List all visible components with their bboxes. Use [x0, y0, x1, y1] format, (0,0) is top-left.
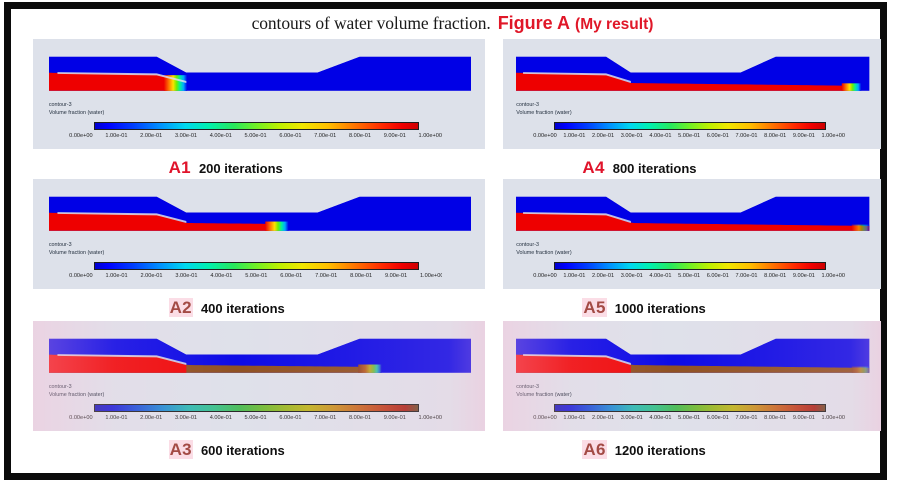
- panel-code-label: A6: [582, 440, 606, 459]
- colorbar-tick-labels: 0.00e+001.00e-012.00e-013.00e-014.00e-01…: [533, 273, 845, 279]
- colorbar-tick: 3.00e-01: [621, 273, 643, 279]
- colorbar-tick: 0.00e+00: [533, 133, 557, 139]
- contour-plot-area: contour-3Volume fraction (water)0.00e+00…: [33, 321, 485, 431]
- colorbar-tick: 2.00e-01: [140, 273, 162, 279]
- colorbar-tick: 7.00e-01: [314, 133, 336, 139]
- colorbar-tick: 0.00e+00: [69, 415, 93, 421]
- colorbar-tick-labels: 0.00e+001.00e-012.00e-013.00e-014.00e-01…: [69, 133, 442, 139]
- figure-panel-a1: contour-3Volume fraction (water)0.00e+00…: [33, 39, 485, 191]
- colorbar-tick: 1.00e-01: [563, 415, 585, 421]
- panel-code-label: A1: [169, 158, 191, 177]
- colorbar-tick: 1.00e+00: [822, 273, 846, 279]
- figure-title: contours of water volume fraction.Figure…: [11, 13, 894, 34]
- colorbar-tick: 2.00e-01: [592, 133, 614, 139]
- contour-variable-label: Volume fraction (water): [49, 110, 104, 118]
- panel-caption: A3600 iterations: [169, 440, 285, 460]
- colorbar-tick: 1.00e-01: [106, 273, 128, 279]
- water-region: [49, 73, 167, 91]
- colorbar-tick: 3.00e-01: [621, 133, 643, 139]
- panel-caption: A51000 iterations: [582, 298, 705, 318]
- colorbar-tick: 4.00e-01: [649, 133, 671, 139]
- contour-name-label: contour-3: [516, 102, 571, 110]
- colorbar-gradient: [94, 262, 419, 270]
- contour-variable-label: Volume fraction (water): [49, 392, 104, 400]
- contour-variable-label: Volume fraction (water): [49, 250, 104, 258]
- duct-contour-plot: [49, 190, 472, 256]
- colorbar-tick: 6.00e-01: [707, 415, 729, 421]
- colorbar-tick: 4.00e-01: [210, 273, 232, 279]
- colorbar-tick: 9.00e-01: [793, 415, 815, 421]
- colorbar-tick: 1.00e+00: [419, 133, 443, 139]
- colorbar-tick: 5.00e-01: [245, 133, 267, 139]
- duct-contour-plot: [49, 50, 472, 116]
- colorbar-tick: 3.00e-01: [175, 133, 197, 139]
- colorbar-tick: 1.00e-01: [563, 133, 585, 139]
- panel-iterations-label: 600 iterations: [201, 443, 285, 458]
- colorbar-gradient: [554, 122, 826, 130]
- panel-iterations-label: 1000 iterations: [615, 301, 706, 316]
- colorbar-tick: 8.00e-01: [349, 415, 371, 421]
- contour-annotation: contour-3Volume fraction (water): [49, 242, 104, 257]
- figure-panel-a6: contour-3Volume fraction (water)0.00e+00…: [503, 321, 881, 473]
- title-main-text: contours of water volume fraction.: [252, 13, 491, 33]
- colorbar-tick: 9.00e-01: [793, 133, 815, 139]
- colorbar-tick: 4.00e-01: [649, 273, 671, 279]
- colorbar-tick: 3.00e-01: [621, 415, 643, 421]
- colorbar-gradient: [554, 404, 826, 412]
- contour-name-label: contour-3: [49, 102, 104, 110]
- contour-name-label: contour-3: [49, 242, 104, 250]
- contour-plot-area: contour-3Volume fraction (water)0.00e+00…: [503, 179, 881, 289]
- colorbar-tick: 3.00e-01: [175, 273, 197, 279]
- colorbar-tick: 8.00e-01: [764, 133, 786, 139]
- colorbar-tick: 1.00e+00: [822, 133, 846, 139]
- colorbar-tick: 1.00e-01: [563, 273, 585, 279]
- contour-annotation: contour-3Volume fraction (water): [49, 102, 104, 117]
- contour-plot-area: contour-3Volume fraction (water)0.00e+00…: [503, 321, 881, 431]
- colorbar-tick: 9.00e-01: [385, 273, 407, 279]
- colorbar-gradient: [94, 404, 419, 412]
- colorbar-tick: 1.00e+00: [822, 415, 846, 421]
- colorbar-tick: 5.00e-01: [245, 415, 267, 421]
- interface-transition-band: [852, 367, 870, 374]
- colorbar-tick: 8.00e-01: [349, 133, 371, 139]
- contour-plot-area: contour-3Volume fraction (water)0.00e+00…: [503, 39, 881, 149]
- interface-transition-band: [852, 225, 870, 232]
- colorbar-tick: 0.00e+00: [533, 415, 557, 421]
- colorbar-tick: 1.00e-01: [105, 415, 127, 421]
- panel-code-label: A4: [582, 158, 604, 177]
- panel-iterations-label: 200 iterations: [199, 161, 283, 176]
- figure-panel-a5: contour-3Volume fraction (water)0.00e+00…: [503, 179, 881, 331]
- colorbar-tick: 7.00e-01: [735, 273, 757, 279]
- colorbar-tick: 6.00e-01: [280, 273, 302, 279]
- colorbar-tick: 5.00e-01: [245, 273, 267, 279]
- colorbar-gradient: [94, 122, 419, 130]
- panel-code-label: A5: [582, 298, 606, 317]
- colorbar-tick: 2.00e-01: [592, 273, 614, 279]
- colorbar-tick: 5.00e-01: [678, 273, 700, 279]
- colorbar-tick: 9.00e-01: [793, 273, 815, 279]
- figure-panel-a4: contour-3Volume fraction (water)0.00e+00…: [503, 39, 881, 191]
- contour-variable-label: Volume fraction (water): [516, 250, 571, 258]
- colorbar-tick: 4.00e-01: [649, 415, 671, 421]
- contour-annotation: contour-3Volume fraction (water): [516, 384, 571, 399]
- interface-transition-band: [842, 83, 861, 92]
- colorbar-tick: 3.00e-01: [175, 415, 197, 421]
- colorbar-tick-labels: 0.00e+001.00e-012.00e-013.00e-014.00e-01…: [69, 415, 442, 421]
- panel-caption: A4800 iterations: [582, 158, 696, 178]
- colorbar-tick: 2.00e-01: [140, 415, 162, 421]
- colorbar-tick: 5.00e-01: [678, 415, 700, 421]
- colorbar-gradient: [554, 262, 826, 270]
- figure-frame: contours of water volume fraction.Figure…: [4, 2, 887, 480]
- panel-iterations-label: 400 iterations: [201, 301, 285, 316]
- colorbar-tick: 8.00e-01: [350, 273, 372, 279]
- panel-iterations-label: 800 iterations: [613, 161, 697, 176]
- interface-transition-band: [265, 222, 288, 232]
- title-figure-label: Figure A: [498, 13, 570, 33]
- colorbar-tick: 0.00e+00: [533, 273, 557, 279]
- colorbar-tick: 6.00e-01: [279, 415, 301, 421]
- duct-contour-plot: [49, 332, 472, 398]
- panel-code-label: A2: [169, 298, 193, 317]
- colorbar-tick: 8.00e-01: [764, 415, 786, 421]
- colorbar-tick: 8.00e-01: [764, 273, 786, 279]
- colorbar-tick: 6.00e-01: [707, 133, 729, 139]
- contour-annotation: contour-3Volume fraction (water): [49, 384, 104, 399]
- colorbar-tick: 7.00e-01: [735, 133, 757, 139]
- contour-name-label: contour-3: [49, 384, 104, 392]
- contour-variable-label: Volume fraction (water): [516, 110, 571, 118]
- panel-caption: A1200 iterations: [169, 158, 283, 178]
- panel-caption: A2400 iterations: [169, 298, 285, 318]
- title-note-label: (My result): [575, 16, 653, 33]
- figure-panel-a2: contour-3Volume fraction (water)0.00e+00…: [33, 179, 485, 331]
- colorbar-tick: 7.00e-01: [315, 273, 337, 279]
- contour-annotation: contour-3Volume fraction (water): [516, 102, 571, 117]
- panel-caption: A61200 iterations: [582, 440, 705, 460]
- colorbar-tick: 6.00e-01: [279, 133, 301, 139]
- colorbar-tick: 1.00e-01: [105, 133, 127, 139]
- contour-plot-area: contour-3Volume fraction (water)0.00e+00…: [33, 39, 485, 149]
- colorbar-tick: 2.00e-01: [140, 133, 162, 139]
- page-root: contours of water volume fraction.Figure…: [0, 0, 904, 501]
- colorbar-tick: 4.00e-01: [210, 415, 232, 421]
- contour-annotation: contour-3Volume fraction (water): [516, 242, 571, 257]
- colorbar-tick: 2.00e-01: [592, 415, 614, 421]
- figure-panel-a3: contour-3Volume fraction (water)0.00e+00…: [33, 321, 485, 473]
- colorbar-tick: 9.00e-01: [384, 415, 406, 421]
- colorbar-tick: 0.00e+00: [69, 133, 93, 139]
- panel-iterations-label: 1200 iterations: [615, 443, 706, 458]
- colorbar-tick-labels: 0.00e+001.00e-012.00e-013.00e-014.00e-01…: [533, 133, 845, 139]
- colorbar-tick: 7.00e-01: [735, 415, 757, 421]
- contour-name-label: contour-3: [516, 242, 571, 250]
- panel-code-label: A3: [169, 440, 193, 459]
- interface-transition-band: [358, 365, 381, 374]
- colorbar-tick: 6.00e-01: [707, 273, 729, 279]
- colorbar-tick: 1.00e+00: [420, 273, 442, 279]
- contour-variable-label: Volume fraction (water): [516, 392, 571, 400]
- colorbar-tick: 0.00e+00: [69, 273, 93, 279]
- colorbar-tick: 9.00e-01: [384, 133, 406, 139]
- colorbar-tick: 1.00e+00: [419, 415, 443, 421]
- colorbar-tick-labels: 0.00e+001.00e-012.00e-013.00e-014.00e-01…: [533, 415, 845, 421]
- colorbar-tick: 7.00e-01: [314, 415, 336, 421]
- contour-plot-area: contour-3Volume fraction (water)0.00e+00…: [33, 179, 485, 289]
- contour-name-label: contour-3: [516, 384, 571, 392]
- colorbar-tick: 5.00e-01: [678, 133, 700, 139]
- colorbar-tick-labels: 0.00e+001.00e-012.00e-013.00e-014.00e-01…: [69, 273, 442, 279]
- colorbar-tick: 4.00e-01: [210, 133, 232, 139]
